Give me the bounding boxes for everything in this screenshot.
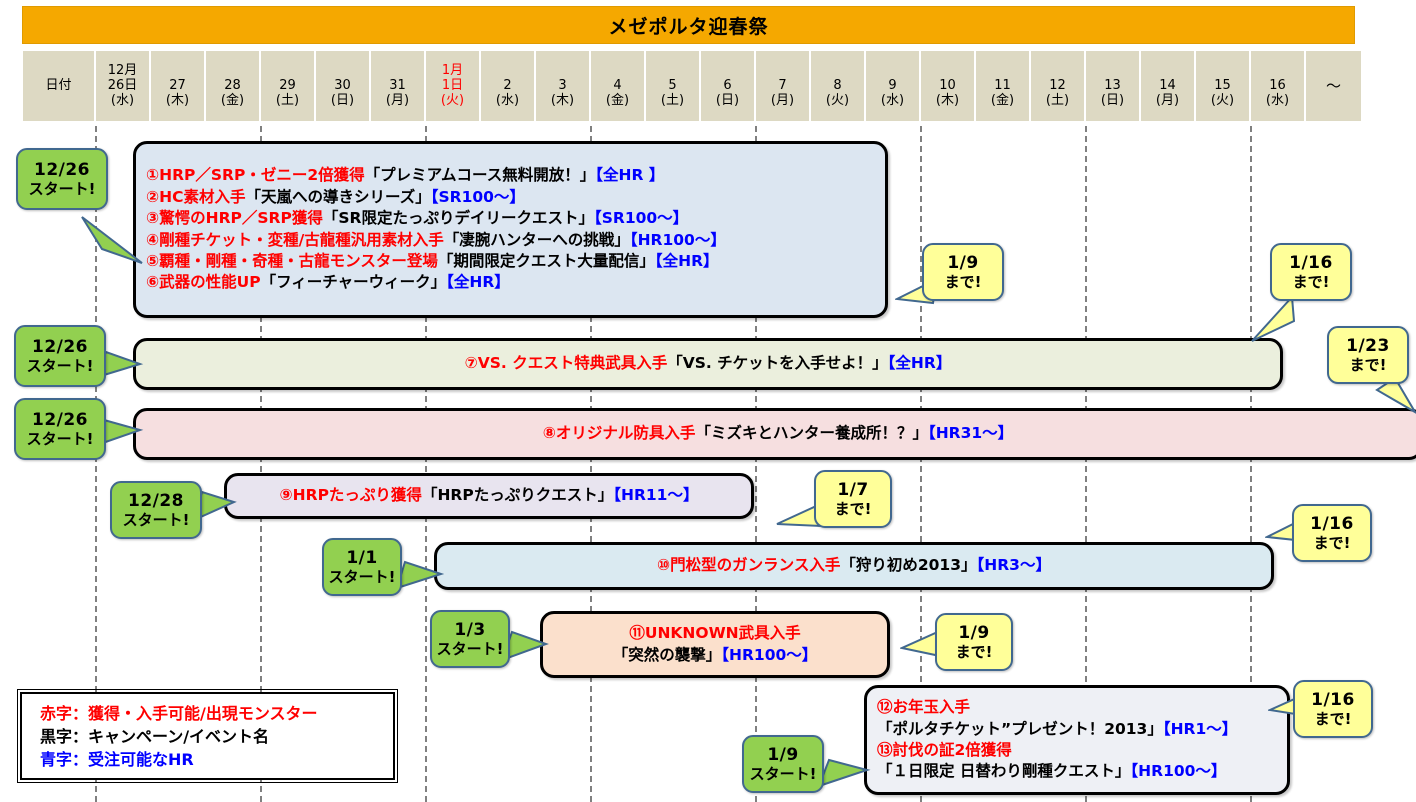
calendar-day-l2: 16 <box>1269 79 1286 94</box>
bar-text-segment: 【全HR 】 <box>595 166 664 184</box>
calendar-day-cell: 8(火) <box>810 50 865 122</box>
bar-text-line: ⑤覇種・剛種・奇種・古龍モンスター登場「期間限定クエスト大量配信」【全HR】 <box>146 251 875 272</box>
bar-text-block: ⑫お年玉入手「ポルタチケット”プレゼント！2013」【HR1～】⑬討伐の証2倍獲… <box>867 697 1287 783</box>
calendar-day-l3: (土) <box>1046 94 1069 109</box>
bar-text-segment: 【HR100～】 <box>721 646 817 664</box>
calendar-day-cell: 2(水) <box>480 50 535 122</box>
bar-text-segment: 門松型のガンランス入手 <box>670 556 840 574</box>
calendar-day-cell: 31(月) <box>370 50 425 122</box>
bar-text-segment: 【HR100～】 <box>1130 762 1226 780</box>
bar-text-segment: お年玉入手 <box>893 698 971 716</box>
bar-text-line: ⑨HRPたっぷり獲得「HRPたっぷりクエスト」【HR11～】 <box>237 485 741 506</box>
callout-line1: 12/26 <box>32 410 88 430</box>
bar-text-segment: 「HRPたっぷりクエスト」 <box>422 486 613 504</box>
callout-start-1-1[interactable]: 1/1 スタート! <box>322 538 402 596</box>
callout-start-12-26-a[interactable]: 12/26 スタート! <box>16 148 108 210</box>
calendar-day-l3: (月) <box>386 94 409 109</box>
calendar-day-cell: 4(金) <box>590 50 645 122</box>
callout-line1: 1/3 <box>454 620 485 640</box>
bar-text-segment: VS. クエスト特典武具入手 <box>478 354 667 372</box>
bar-text-segment: 【HR3～】 <box>977 556 1051 574</box>
bar-text-segment: ⑩ <box>657 556 670 574</box>
calendar-day-l3: (月) <box>1156 94 1179 109</box>
bar-text-segment: 【全HR】 <box>655 252 719 270</box>
legend-blue-line: 青字：受注可能なHR <box>40 748 393 771</box>
callout-start-1-3[interactable]: 1/3 スタート! <box>430 610 510 668</box>
calendar-day-l3: (土) <box>661 94 684 109</box>
callout-end-1-9-b[interactable]: 1/9 まで! <box>935 613 1013 671</box>
bar-text-segment: HRPたっぷり獲得 <box>293 486 422 504</box>
calendar-day-l2: 13 <box>1104 79 1121 94</box>
calendar-day-cell: 12月26日(水) <box>95 50 150 122</box>
callout-line1: 1/16 <box>1310 514 1354 534</box>
callout-line1: 1/9 <box>767 745 798 765</box>
bar-text-line: ⑦VS. クエスト特典武具入手「VS. チケットを入手せよ！」【全HR】 <box>146 353 1270 374</box>
bar-text-segment: 「VS. チケットを入手せよ！」 <box>667 354 887 372</box>
bar-text-block: ⑧オリジナル防具入手「ミズキとハンター養成所！？」【HR31～】 <box>136 423 1416 444</box>
bar-text-segment: 「SR限定たっぷりデイリークエスト」 <box>323 209 594 227</box>
callout-line2: まで! <box>956 643 993 661</box>
calendar-day-cell: 30(日) <box>315 50 370 122</box>
calendar-day-l2: 5 <box>668 79 676 94</box>
callout-line1: 1/9 <box>947 253 978 273</box>
calendar-day-l3: (木) <box>936 94 959 109</box>
bar-text-segment: ② <box>146 188 159 206</box>
calendar-day-l1: 12月 <box>108 64 138 79</box>
calendar-day-l3: (金) <box>606 94 629 109</box>
callout-line2: まで! <box>1293 273 1330 291</box>
bar-text-segment: ⑦ <box>465 354 478 372</box>
calendar-day-cell: 11(金) <box>975 50 1030 122</box>
calendar-day-cell: 12(土) <box>1030 50 1085 122</box>
legend-box: 赤字：獲得・入手可能/出現モンスター 黒字：キャンペーン/イベント名 青字：受注… <box>20 692 395 780</box>
callout-line2: まで! <box>1350 356 1387 374</box>
bar-text-line: ⑧オリジナル防具入手「ミズキとハンター養成所！？」【HR31～】 <box>146 423 1410 444</box>
calendar-day-l2: 4 <box>613 79 621 94</box>
bar-text-segment: 「ポルタチケット”プレゼント！2013」 <box>877 720 1163 738</box>
callout-start-12-26-c[interactable]: 12/26 スタート! <box>14 398 106 460</box>
callout-line1: 12/28 <box>128 491 184 511</box>
calendar-header-row: 日付 12月26日(水) 27(木) 28(金) 29(土) 30(日) 31(… <box>22 50 1362 122</box>
bar-text-segment: 覇種・剛種・奇種・古龍モンスター登場 <box>159 252 438 270</box>
bar-text-block: ⑪UNKNOWN武具入手「突然の襲撃」【HR100～】 <box>543 623 887 666</box>
callout-line2: スタート! <box>29 180 96 198</box>
calendar-day-l3: (水) <box>1266 94 1289 109</box>
calendar-day-l2: 1日 <box>442 79 463 94</box>
callout-end-1-16-b[interactable]: 1/16 まで! <box>1292 504 1372 562</box>
bar-text-segment: 「１日限定 日替わり剛種クエスト」 <box>877 762 1130 780</box>
callout-line2: スタート! <box>329 568 396 586</box>
calendar-day-cell: 1月1日(火) <box>425 50 480 122</box>
callout-line2: スタート! <box>437 640 504 658</box>
calendar-day-l3: (火) <box>441 94 464 109</box>
callout-end-1-16-a[interactable]: 1/16 まで! <box>1270 243 1352 301</box>
calendar-day-l3: (月) <box>771 94 794 109</box>
schedule-bar-group-1[interactable]: ①HRP／SRP・ゼニー2倍獲得「プレミアムコース無料開放！」【全HR 】②HC… <box>133 141 888 318</box>
calendar-day-l3: (火) <box>1211 94 1234 109</box>
calendar-day-cell: 29(土) <box>260 50 315 122</box>
bar-text-line: 「１日限定 日替わり剛種クエスト」【HR100～】 <box>877 761 1277 782</box>
bar-text-segment: 「ミズキとハンター養成所！？」 <box>695 424 928 442</box>
bar-text-segment: 【SR100～】 <box>431 188 525 206</box>
bar-text-segment: ⑥ <box>146 273 159 291</box>
bar-text-line: 「突然の襲撃」【HR100～】 <box>553 645 877 666</box>
calendar-day-l2: 26日 <box>108 79 138 94</box>
bar-text-line: ①HRP／SRP・ゼニー2倍獲得「プレミアムコース無料開放！」【全HR 】 <box>146 165 875 186</box>
bar-text-segment: ⑫ <box>877 698 893 716</box>
calendar-day-cell: 7(月) <box>755 50 810 122</box>
bar-text-segment: ⑪ <box>629 624 645 642</box>
callout-start-12-28[interactable]: 12/28 スタート! <box>110 481 202 539</box>
schedule-bar-7[interactable]: ⑦VS. クエスト特典武具入手「VS. チケットを入手せよ！」【全HR】 <box>133 338 1283 390</box>
schedule-bar-12-13[interactable]: ⑫お年玉入手「ポルタチケット”プレゼント！2013」【HR1～】⑬討伐の証2倍獲… <box>864 685 1290 795</box>
calendar-day-l3: (水) <box>881 94 904 109</box>
calendar-day-l2: 11 <box>994 79 1011 94</box>
calendar-day-l3: (水) <box>111 94 134 109</box>
callout-line1: 12/26 <box>32 337 88 357</box>
calendar-day-l2: 7 <box>778 79 786 94</box>
bar-text-segment: オリジナル防具入手 <box>556 424 696 442</box>
callout-end-1-7[interactable]: 1/7 まで! <box>814 470 892 528</box>
callout-line2: スタート! <box>27 357 94 375</box>
bar-text-segment: UNKNOWN武具入手 <box>645 624 801 642</box>
calendar-day-cell: 5(土) <box>645 50 700 122</box>
callout-tail <box>395 560 445 600</box>
calendar-day-cell: 14(月) <box>1140 50 1195 122</box>
bar-text-line: ⑬討伐の証2倍獲得 <box>877 740 1277 761</box>
calendar-day-cell: 27(木) <box>150 50 205 122</box>
bar-text-segment: 「フィーチャーウィーク」 <box>261 273 447 291</box>
bar-text-line: ⑫お年玉入手 <box>877 697 1277 718</box>
callout-line1: 1/9 <box>958 623 989 643</box>
bar-text-line: ②HC素材入手「天嵐への導きシリーズ」【SR100～】 <box>146 187 875 208</box>
calendar-overflow-cell: ～ <box>1305 50 1362 122</box>
calendar-day-l2: 9 <box>888 79 896 94</box>
bar-text-segment: 「天嵐への導きシリーズ」 <box>245 188 430 206</box>
schedule-bar-9[interactable]: ⑨HRPたっぷり獲得「HRPたっぷりクエスト」【HR11～】 <box>224 473 754 519</box>
callout-line2: スタート! <box>750 765 817 783</box>
calendar-day-l3: (土) <box>276 94 299 109</box>
calendar-day-l2: 27 <box>169 79 186 94</box>
calendar-day-l2: 14 <box>1159 79 1176 94</box>
callout-line1: 1/16 <box>1311 690 1355 710</box>
calendar-day-l2: 31 <box>389 79 406 94</box>
bar-text-segment: 剛種チケット・変種/古龍種汎用素材入手 <box>159 231 444 249</box>
calendar-day-l3: (木) <box>166 94 189 109</box>
calendar-day-l1: 1月 <box>442 64 463 79</box>
calendar-day-cell: 3(木) <box>535 50 590 122</box>
bar-text-segment: 「期間限定クエスト大量配信」 <box>438 252 655 270</box>
callout-line2: まで! <box>945 273 982 291</box>
bar-text-segment: ① <box>146 166 159 184</box>
calendar-day-l2: 28 <box>224 79 241 94</box>
calendar-day-l2: 29 <box>279 79 296 94</box>
bar-text-line: ③驚愕のHRP／SRP獲得「SR限定たっぷりデイリークエスト」【SR100～】 <box>146 208 875 229</box>
bar-text-line: 「ポルタチケット”プレゼント！2013」【HR1～】 <box>877 719 1277 740</box>
callout-end-1-23[interactable]: 1/23 まで! <box>1327 326 1409 384</box>
callout-tail <box>1250 295 1300 345</box>
calendar-day-l2: 30 <box>334 79 351 94</box>
event-title-bar: メゼポルタ迎春祭 <box>22 6 1355 44</box>
calendar-day-cell: 10(木) <box>920 50 975 122</box>
callout-end-1-9-a[interactable]: 1/9 まで! <box>922 243 1004 301</box>
bar-text-segment: ⑨ <box>280 486 293 504</box>
bar-text-segment: 討伐の証2倍獲得 <box>893 741 1012 759</box>
callout-start-1-9[interactable]: 1/9 スタート! <box>742 735 824 793</box>
schedule-bar-8[interactable]: ⑧オリジナル防具入手「ミズキとハンター養成所！？」【HR31～】 <box>133 408 1416 460</box>
calendar-label-text: 日付 <box>45 79 71 94</box>
calendar-day-cell: 28(金) <box>205 50 260 122</box>
callout-line1: 1/16 <box>1289 253 1333 273</box>
callout-tail <box>80 215 155 270</box>
bar-text-segment: 【HR1～】 <box>1163 720 1237 738</box>
callout-end-1-16-c[interactable]: 1/16 まで! <box>1293 680 1373 738</box>
bar-text-segment: 「狩り初め2013」 <box>840 556 976 574</box>
bar-text-segment: 【SR100～】 <box>594 209 688 227</box>
calendar-day-l2: 6 <box>723 79 731 94</box>
callout-start-12-26-b[interactable]: 12/26 スタート! <box>14 325 106 387</box>
bar-text-segment: 「プレミアムコース無料開放！」 <box>365 166 596 184</box>
bar-text-line: ⑪UNKNOWN武具入手 <box>553 623 877 644</box>
schedule-bar-10[interactable]: ⑩門松型のガンランス入手「狩り初め2013」【HR3～】 <box>434 542 1274 590</box>
callout-line2: スタート! <box>123 511 190 529</box>
calendar-day-l3: (日) <box>331 94 354 109</box>
bar-text-segment: 【HR11～】 <box>613 486 698 504</box>
bar-text-segment: ⑧ <box>543 424 556 442</box>
bar-text-segment: 武器の性能UP <box>159 273 260 291</box>
calendar-label-cell: 日付 <box>22 50 95 122</box>
bar-text-segment: 【HR31～】 <box>928 424 1013 442</box>
callout-line2: スタート! <box>27 430 94 448</box>
calendar-day-l2: 12 <box>1049 79 1066 94</box>
calendar-day-l3: (日) <box>1101 94 1124 109</box>
calendar-day-l3: (木) <box>551 94 574 109</box>
schedule-bar-11[interactable]: ⑪UNKNOWN武具入手「突然の襲撃」【HR100～】 <box>540 611 890 678</box>
calendar-day-cell: 9(水) <box>865 50 920 122</box>
bar-text-segment: HC素材入手 <box>159 188 245 206</box>
calendar-day-l2: 3 <box>558 79 566 94</box>
calendar-day-l2: 8 <box>833 79 841 94</box>
calendar-day-cell: 6(日) <box>700 50 755 122</box>
bar-text-block: ⑩門松型のガンランス入手「狩り初め2013」【HR3～】 <box>437 555 1271 576</box>
bar-text-segment: 「突然の襲撃」 <box>613 646 722 664</box>
calendar-day-l2: 10 <box>939 79 956 94</box>
bar-text-segment: 【全HR】 <box>888 354 952 372</box>
calendar-day-l2: 15 <box>1214 79 1231 94</box>
callout-line1: 1/23 <box>1346 336 1390 356</box>
calendar-day-l3: (金) <box>991 94 1014 109</box>
callout-line1: 12/26 <box>34 160 90 180</box>
callout-line2: まで! <box>1315 710 1352 728</box>
legend-black-line: 黒字：キャンペーン/イベント名 <box>40 725 393 748</box>
bar-text-line: ④剛種チケット・変種/古龍種汎用素材入手「凄腕ハンターへの挑戦」【HR100～】 <box>146 230 875 251</box>
calendar-day-cell: 15(火) <box>1195 50 1250 122</box>
calendar-day-l3: (金) <box>221 94 244 109</box>
calendar-day-cell: 13(日) <box>1085 50 1140 122</box>
legend-red-line: 赤字：獲得・入手可能/出現モンスター <box>40 702 393 725</box>
bar-text-block: ①HRP／SRP・ゼニー2倍獲得「プレミアムコース無料開放！」【全HR 】②HC… <box>136 165 885 293</box>
bar-text-line: ⑥武器の性能UP「フィーチャーウィーク」【全HR】 <box>146 272 875 293</box>
bar-text-segment: HRP／SRP・ゼニー2倍獲得 <box>159 166 365 184</box>
callout-line2: まで! <box>835 500 872 518</box>
calendar-day-l3: (火) <box>826 94 849 109</box>
bar-text-line: ⑩門松型のガンランス入手「狩り初め2013」【HR3～】 <box>447 555 1261 576</box>
bar-text-segment: ⑬ <box>877 741 893 759</box>
callout-line2: まで! <box>1314 534 1351 552</box>
callout-line1: 1/1 <box>346 548 377 568</box>
calendar-day-l2: 2 <box>503 79 511 94</box>
calendar-day-l3: (水) <box>496 94 519 109</box>
calendar-day-cell: 16(水) <box>1250 50 1305 122</box>
bar-text-block: ⑨HRPたっぷり獲得「HRPたっぷりクエスト」【HR11～】 <box>227 485 751 506</box>
calendar-day-l3: (日) <box>716 94 739 109</box>
callout-line1: 1/7 <box>837 480 868 500</box>
callout-tail <box>817 758 872 798</box>
bar-text-segment: 【全HR】 <box>446 273 510 291</box>
bar-text-block: ⑦VS. クエスト特典武具入手「VS. チケットを入手せよ！」【全HR】 <box>136 353 1280 374</box>
bar-text-segment: 「凄腕ハンターへの挑戦」 <box>444 231 630 249</box>
page-title: メゼポルタ迎春祭 <box>608 12 768 39</box>
bar-text-segment: 驚愕のHRP／SRP獲得 <box>159 209 323 227</box>
bar-text-segment: 【HR100～】 <box>630 231 726 249</box>
